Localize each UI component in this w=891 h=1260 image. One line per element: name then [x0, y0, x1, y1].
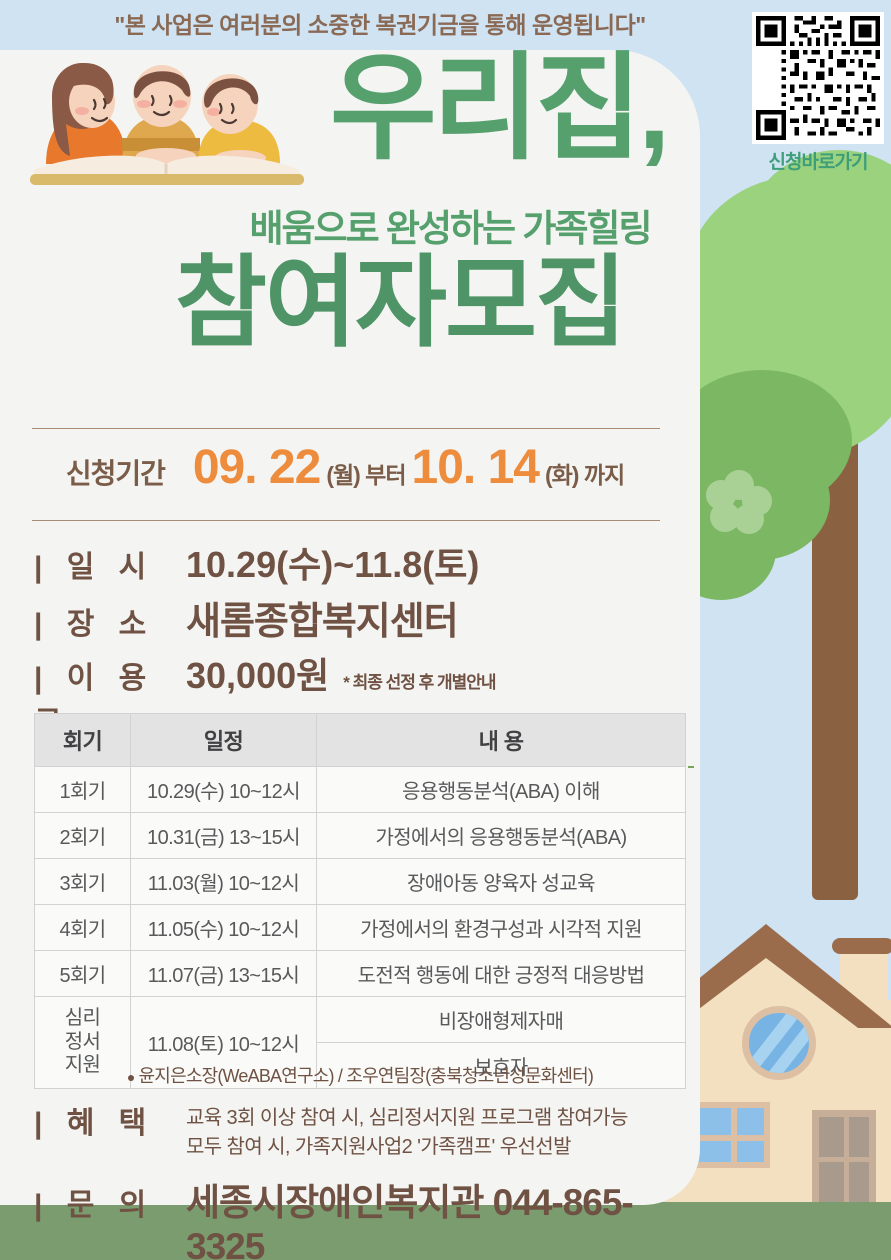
- table-row: 5회기 11.07(금) 13~15시 도전적 행동에 대한 긍정적 대응방법: [35, 951, 686, 997]
- application-period: 신청기간 09. 22 (월) 부터 10. 14 (화) 까지: [0, 440, 690, 495]
- contact-key: | 문 의: [34, 1180, 186, 1224]
- column-header-date: 일정: [131, 714, 317, 767]
- benefit-row: | 혜 택 교육 3회 이상 참여 시, 심리정서지원 프로그램 참여가능 모두…: [34, 1098, 694, 1162]
- benefit-line-1: 교육 3회 이상 참여 시, 심리정서지원 프로그램 참여가능: [186, 1107, 628, 1129]
- info-row-datetime: | 일 시 10.29(수)~11.8(토): [34, 536, 694, 588]
- page-title-main: 우리집,: [330, 48, 690, 170]
- divider-bottom: [32, 520, 660, 521]
- qr-block[interactable]: 신청바로가기: [752, 12, 884, 174]
- cell-session: 1회기: [35, 767, 131, 813]
- house-round-window: [742, 1006, 816, 1080]
- qr-code-icon[interactable]: [752, 12, 884, 144]
- info-fee-note: * 최종 선정 후 개별안내: [343, 668, 495, 693]
- info-value: 30,000원: [186, 647, 329, 699]
- contact-value: 세종시장애인복지관 044-865-3325: [186, 1172, 694, 1260]
- cell-content: 응용행동분석(ABA) 이해: [317, 767, 686, 813]
- info-row-place: | 장 소 새롬종합복지센터: [34, 590, 694, 645]
- family-reading-book-illustration: [18, 52, 318, 187]
- table-row: 2회기 10.31(금) 13~15시 가정에서의 응용행동분석(ABA): [35, 813, 686, 859]
- period-label: 신청기간: [66, 452, 165, 492]
- flower-icon: [706, 470, 772, 532]
- schedule-table: 회기 일정 내 용 1회기 10.29(수) 10~12시 응용행동분석(ABA…: [34, 713, 686, 1089]
- qr-apply-link-label[interactable]: 신청바로가기: [752, 147, 884, 174]
- page-title-recruit: 참여자모집: [100, 248, 700, 358]
- table-row-support: 심리 정서 지원 11.08(토) 10~12시 비장애형제자매: [35, 997, 686, 1043]
- cell-content: 장애아동 양육자 성교육: [317, 859, 686, 905]
- table-row: 1회기 10.29(수) 10~12시 응용행동분석(ABA) 이해: [35, 767, 686, 813]
- period-start-day: (월) 부터: [326, 456, 405, 490]
- support-line: 심리: [65, 1007, 101, 1029]
- cell-content-support: 비장애형제자매: [317, 997, 686, 1043]
- lottery-fund-notice: "본 사업은 여러분의 소중한 복권기금을 통해 운영됩니다": [0, 6, 760, 40]
- period-end-day: (화) 까지: [545, 456, 624, 490]
- table-header-row: 회기 일정 내 용: [35, 714, 686, 767]
- cell-date: 11.03(월) 10~12시: [131, 859, 317, 905]
- cell-session: 5회기: [35, 951, 131, 997]
- cell-session: 2회기: [35, 813, 131, 859]
- cell-date: 11.07(금) 13~15시: [131, 951, 317, 997]
- house-square-window: [692, 1102, 770, 1168]
- cell-date: 11.05(수) 10~12시: [131, 905, 317, 951]
- instructors-note: ●윤지은소장(WeABA연구소) / 조우연팀장(충북청소년성문화센터): [34, 1062, 686, 1088]
- cell-content: 도전적 행동에 대한 긍정적 대응방법: [317, 951, 686, 997]
- info-key: | 일 시: [34, 542, 186, 586]
- period-start-date: 09. 22: [193, 440, 320, 495]
- benefit-value: 교육 3회 이상 참여 시, 심리정서지원 프로그램 참여가능 모두 참여 시,…: [186, 1098, 628, 1162]
- cell-content: 가정에서의 환경구성과 시각적 지원: [317, 905, 686, 951]
- bullet-icon: ●: [127, 1069, 135, 1085]
- info-key: | 장 소: [34, 599, 186, 643]
- benefit-line-2: 모두 참여 시, 가족지원사업2 '가족캠프' 우선선발: [186, 1136, 571, 1158]
- benefit-contact-block: | 혜 택 교육 3회 이상 참여 시, 심리정서지원 프로그램 참여가능 모두…: [34, 1098, 694, 1260]
- cell-session: 4회기: [35, 905, 131, 951]
- poster-root: "본 사업은 여러분의 소중한 복권기금을 통해 운영됩니다": [0, 0, 891, 1260]
- support-line: 정서: [65, 1031, 101, 1053]
- cell-session: 3회기: [35, 859, 131, 905]
- column-header-content: 내 용: [317, 714, 686, 767]
- table-row: 4회기 11.05(수) 10~12시 가정에서의 환경구성과 시각적 지원: [35, 905, 686, 951]
- info-value: 새롬종합복지센터: [186, 590, 458, 645]
- cell-content: 가정에서의 응용행동분석(ABA): [317, 813, 686, 859]
- contact-row: | 문 의 세종시장애인복지관 044-865-3325: [34, 1172, 694, 1260]
- benefit-key: | 혜 택: [34, 1098, 186, 1142]
- instructors-text: 윤지은소장(WeABA연구소) / 조우연팀장(충북청소년성문화센터): [139, 1066, 594, 1086]
- info-value: 10.29(수)~11.8(토): [186, 536, 479, 588]
- divider-top: [32, 428, 660, 429]
- period-end-date: 10. 14: [412, 440, 539, 495]
- table-row: 3회기 11.03(월) 10~12시 장애아동 양육자 성교육: [35, 859, 686, 905]
- column-header-session: 회기: [35, 714, 131, 767]
- cell-date: 10.29(수) 10~12시: [131, 767, 317, 813]
- cell-date: 10.31(금) 13~15시: [131, 813, 317, 859]
- page-subtitle: 배움으로 완성하는 가족힐링: [210, 198, 690, 252]
